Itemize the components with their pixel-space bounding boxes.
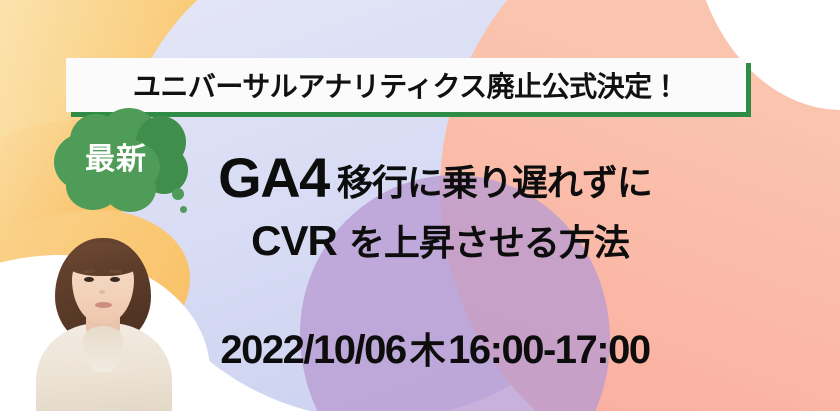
schedule-date: 2022/10/06 <box>220 328 405 372</box>
headline-box: ユニバーサルアナリティクス廃止公式決定！ <box>66 58 746 112</box>
presenter-photo <box>28 228 178 411</box>
schedule-weekday: 木 <box>410 331 445 372</box>
schedule-time: 16:00-17:00 <box>448 328 649 372</box>
webinar-banner: ユニバーサルアナリティクス廃止公式決定！ 最新 GA4移行に乗り遅れずに CVR… <box>0 0 840 411</box>
presenter-mouth <box>95 302 112 308</box>
headline-text: ユニバーサルアナリティクス廃止公式決定！ <box>133 65 679 105</box>
presenter-eye-right <box>110 277 120 282</box>
title-line-1-jp: 移行に乗り遅れずに <box>337 163 652 204</box>
new-badge-label: 最新 <box>48 134 184 178</box>
presenter-nose <box>99 290 105 294</box>
title-cvr-text: CVR <box>251 217 337 264</box>
title-ga4-text: GA4 <box>218 146 329 209</box>
presenter-eye-left <box>84 277 94 282</box>
title-line-2-jp: を上昇させる方法 <box>349 223 629 264</box>
